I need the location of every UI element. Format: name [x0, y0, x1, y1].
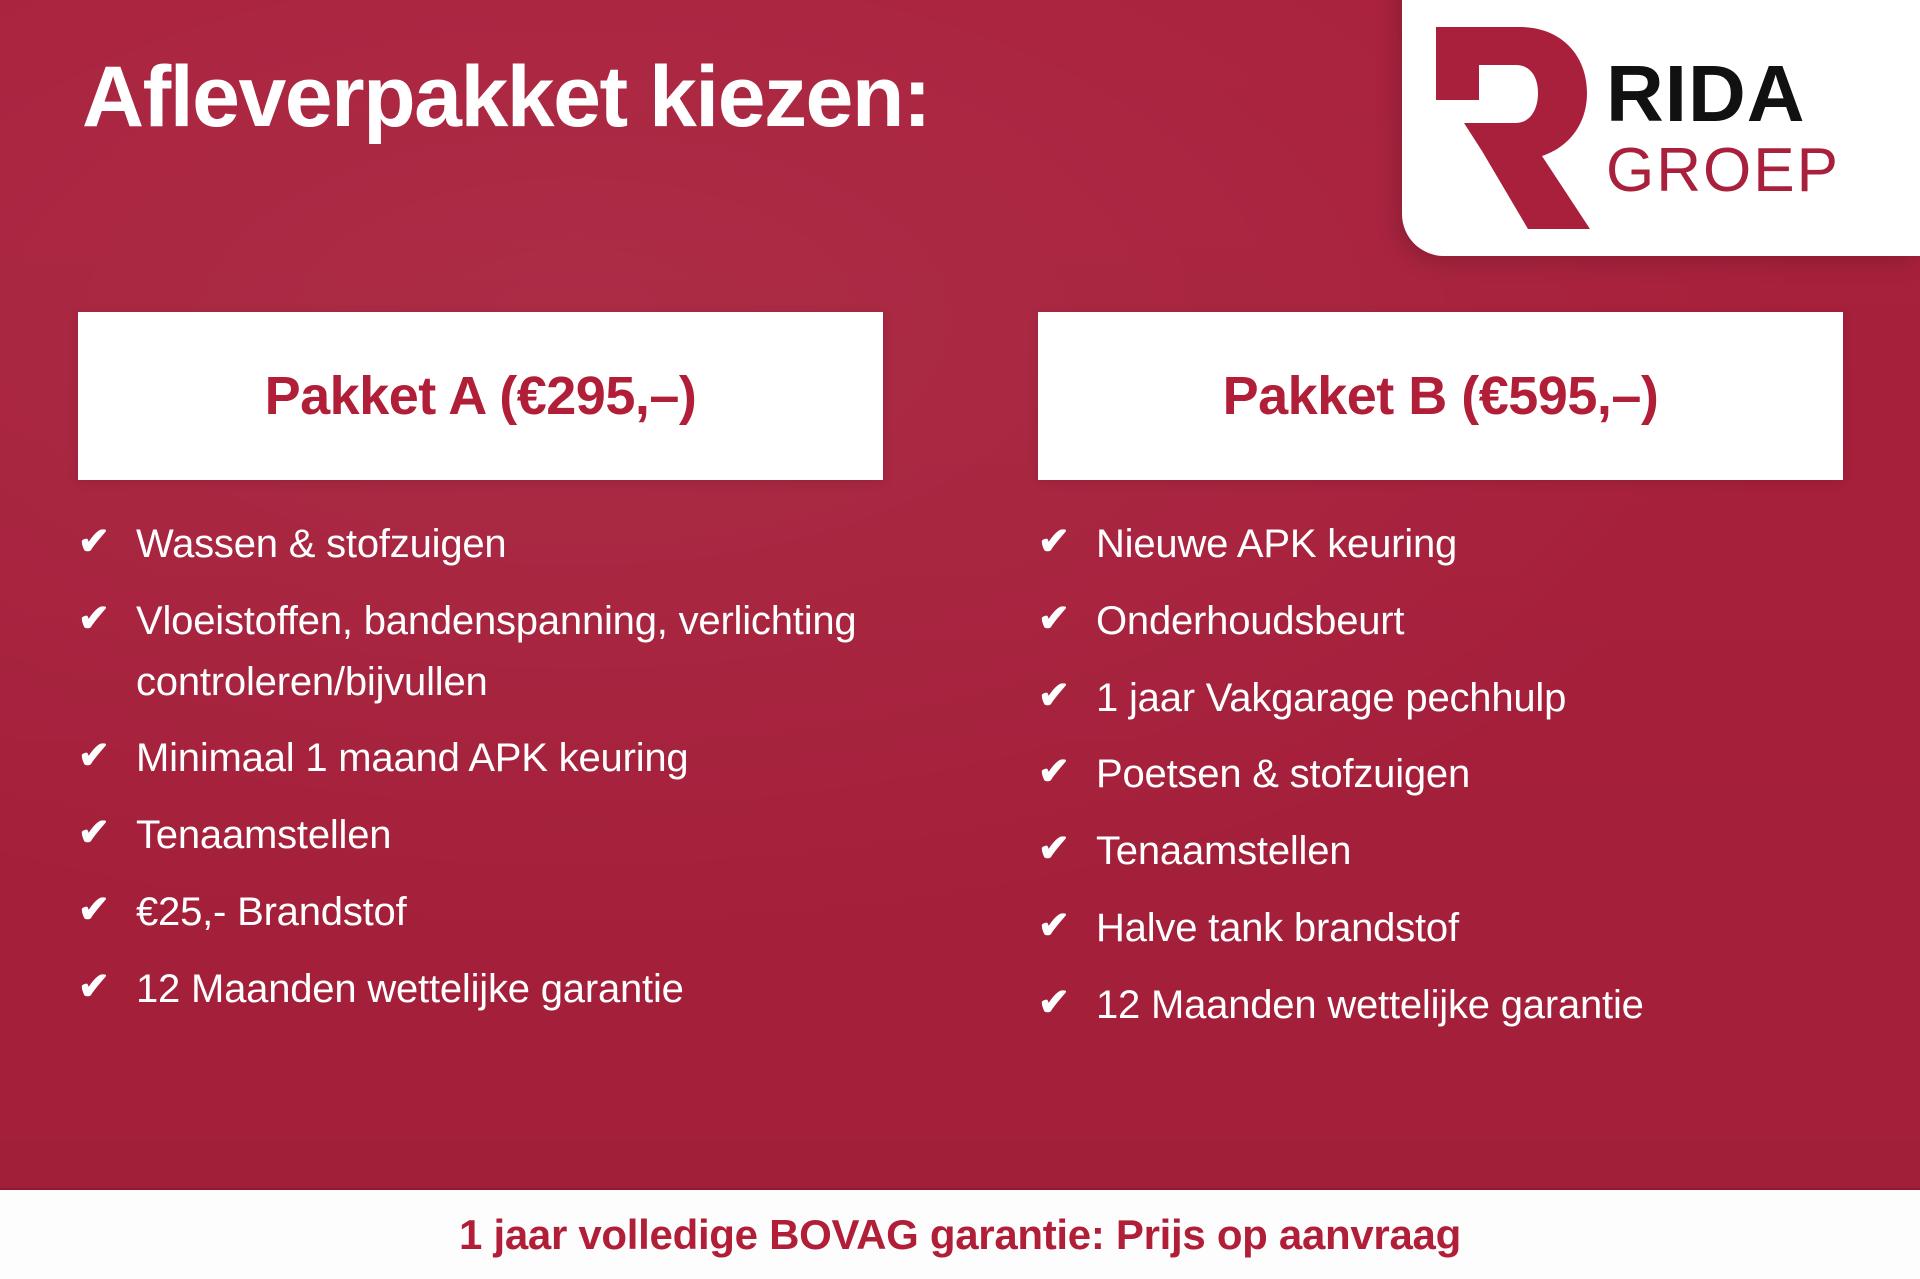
- check-icon: ✔: [1038, 668, 1090, 726]
- feature-label: Tenaamstellen: [1096, 821, 1843, 882]
- afleverpakket-poster: Afleverpakket kiezen: RIDA GROEP Pakket …: [0, 0, 1920, 1279]
- brand-name-secondary: GROEP: [1606, 140, 1840, 202]
- list-item: ✔ Wassen & stofzuigen: [78, 514, 883, 575]
- list-item: ✔ Tenaamstellen: [78, 805, 883, 866]
- check-icon: ✔: [1038, 591, 1090, 649]
- list-item: ✔ Poetsen & stofzuigen: [1038, 744, 1843, 805]
- feature-label: Nieuwe APK keuring: [1096, 514, 1843, 575]
- brand-name-primary: RIDA: [1606, 54, 1840, 134]
- check-icon: ✔: [1038, 744, 1090, 802]
- list-item: ✔ €25,- Brandstof: [78, 882, 883, 943]
- list-item: ✔ Nieuwe APK keuring: [1038, 514, 1843, 575]
- feature-label: 12 Maanden wettelijke garantie: [136, 959, 883, 1020]
- package-column-a: Pakket A (€295,–) ✔ Wassen & stofzuigen …: [78, 312, 883, 1052]
- list-item: ✔ Onderhoudsbeurt: [1038, 591, 1843, 652]
- check-icon: ✔: [78, 514, 130, 572]
- feature-label: €25,- Brandstof: [136, 882, 883, 943]
- footer-banner: 1 jaar volledige BOVAG garantie: Prijs o…: [0, 1188, 1920, 1279]
- feature-label: Tenaamstellen: [136, 805, 883, 866]
- brand-wordmark: RIDA GROEP: [1606, 54, 1840, 202]
- package-b-feature-list: ✔ Nieuwe APK keuring ✔ Onderhoudsbeurt ✔…: [1038, 514, 1843, 1036]
- rida-r-monogram-icon: [1424, 23, 1592, 233]
- package-b-header-card[interactable]: Pakket B (€595,–): [1038, 312, 1843, 480]
- feature-label: 12 Maanden wettelijke garantie: [1096, 975, 1843, 1036]
- package-a-title: Pakket A (€295,–): [265, 365, 697, 427]
- package-a-feature-list: ✔ Wassen & stofzuigen ✔ Vloeistoffen, ba…: [78, 514, 883, 1020]
- package-a-header-card[interactable]: Pakket A (€295,–): [78, 312, 883, 480]
- check-icon: ✔: [1038, 821, 1090, 879]
- check-icon: ✔: [78, 591, 130, 649]
- list-item: ✔ 12 Maanden wettelijke garantie: [1038, 975, 1843, 1036]
- check-icon: ✔: [78, 728, 130, 786]
- feature-label: Halve tank brandstof: [1096, 898, 1843, 959]
- feature-label: 1 jaar Vakgarage pechhulp: [1096, 668, 1843, 729]
- brand-logo-panel: RIDA GROEP: [1402, 0, 1920, 256]
- list-item: ✔ Halve tank brandstof: [1038, 898, 1843, 959]
- package-columns: Pakket A (€295,–) ✔ Wassen & stofzuigen …: [78, 312, 1880, 1052]
- feature-label: Vloeistoffen, bandenspanning, verlichtin…: [136, 591, 883, 713]
- feature-label: Poetsen & stofzuigen: [1096, 744, 1843, 805]
- check-icon: ✔: [1038, 514, 1090, 572]
- list-item: ✔ 12 Maanden wettelijke garantie: [78, 959, 883, 1020]
- list-item: ✔ 1 jaar Vakgarage pechhulp: [1038, 668, 1843, 729]
- list-item: ✔ Vloeistoffen, bandenspanning, verlicht…: [78, 591, 883, 713]
- feature-label: Wassen & stofzuigen: [136, 514, 883, 575]
- check-icon: ✔: [78, 959, 130, 1017]
- package-column-b: Pakket B (€595,–) ✔ Nieuwe APK keuring ✔…: [1038, 312, 1843, 1052]
- check-icon: ✔: [78, 882, 130, 940]
- feature-label: Minimaal 1 maand APK keuring: [136, 728, 883, 789]
- brand-logo: RIDA GROEP: [1402, 0, 1920, 256]
- check-icon: ✔: [78, 805, 130, 863]
- check-icon: ✔: [1038, 975, 1090, 1033]
- footer-label: 1 jaar volledige BOVAG garantie: Prijs o…: [459, 1211, 1461, 1259]
- package-b-title: Pakket B (€595,–): [1223, 365, 1659, 427]
- list-item: ✔ Minimaal 1 maand APK keuring: [78, 728, 883, 789]
- check-icon: ✔: [1038, 898, 1090, 956]
- feature-label: Onderhoudsbeurt: [1096, 591, 1843, 652]
- page-title: Afleverpakket kiezen:: [82, 52, 1162, 142]
- list-item: ✔ Tenaamstellen: [1038, 821, 1843, 882]
